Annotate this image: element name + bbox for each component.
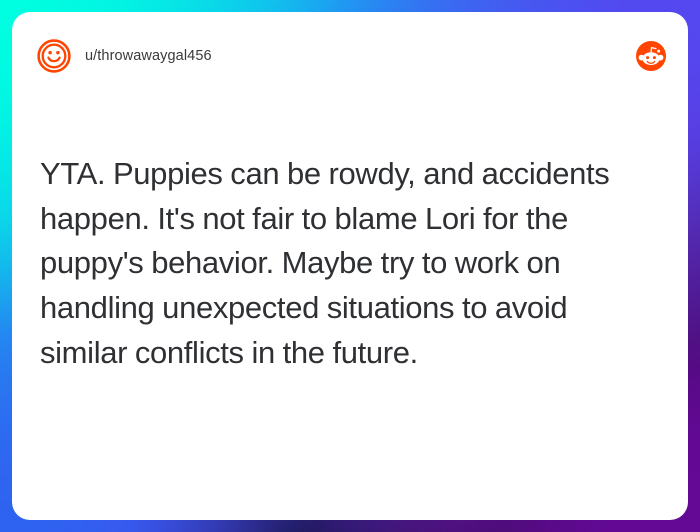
post-body: YTA. Puppies can be rowdy, and accidents…: [12, 152, 688, 375]
post-header: u/throwawaygal456: [12, 12, 688, 100]
author-username: u/throwawaygal456: [85, 48, 212, 64]
reddit-snoo-icon[interactable]: [636, 41, 666, 71]
smiley-face-icon: [36, 38, 72, 74]
author-block[interactable]: u/throwawaygal456: [36, 38, 636, 74]
post-text: YTA. Puppies can be rowdy, and accidents…: [40, 152, 660, 375]
reddit-post-card: u/throwawaygal456: [12, 12, 688, 520]
gradient-background: u/throwawaygal456: [0, 0, 700, 532]
